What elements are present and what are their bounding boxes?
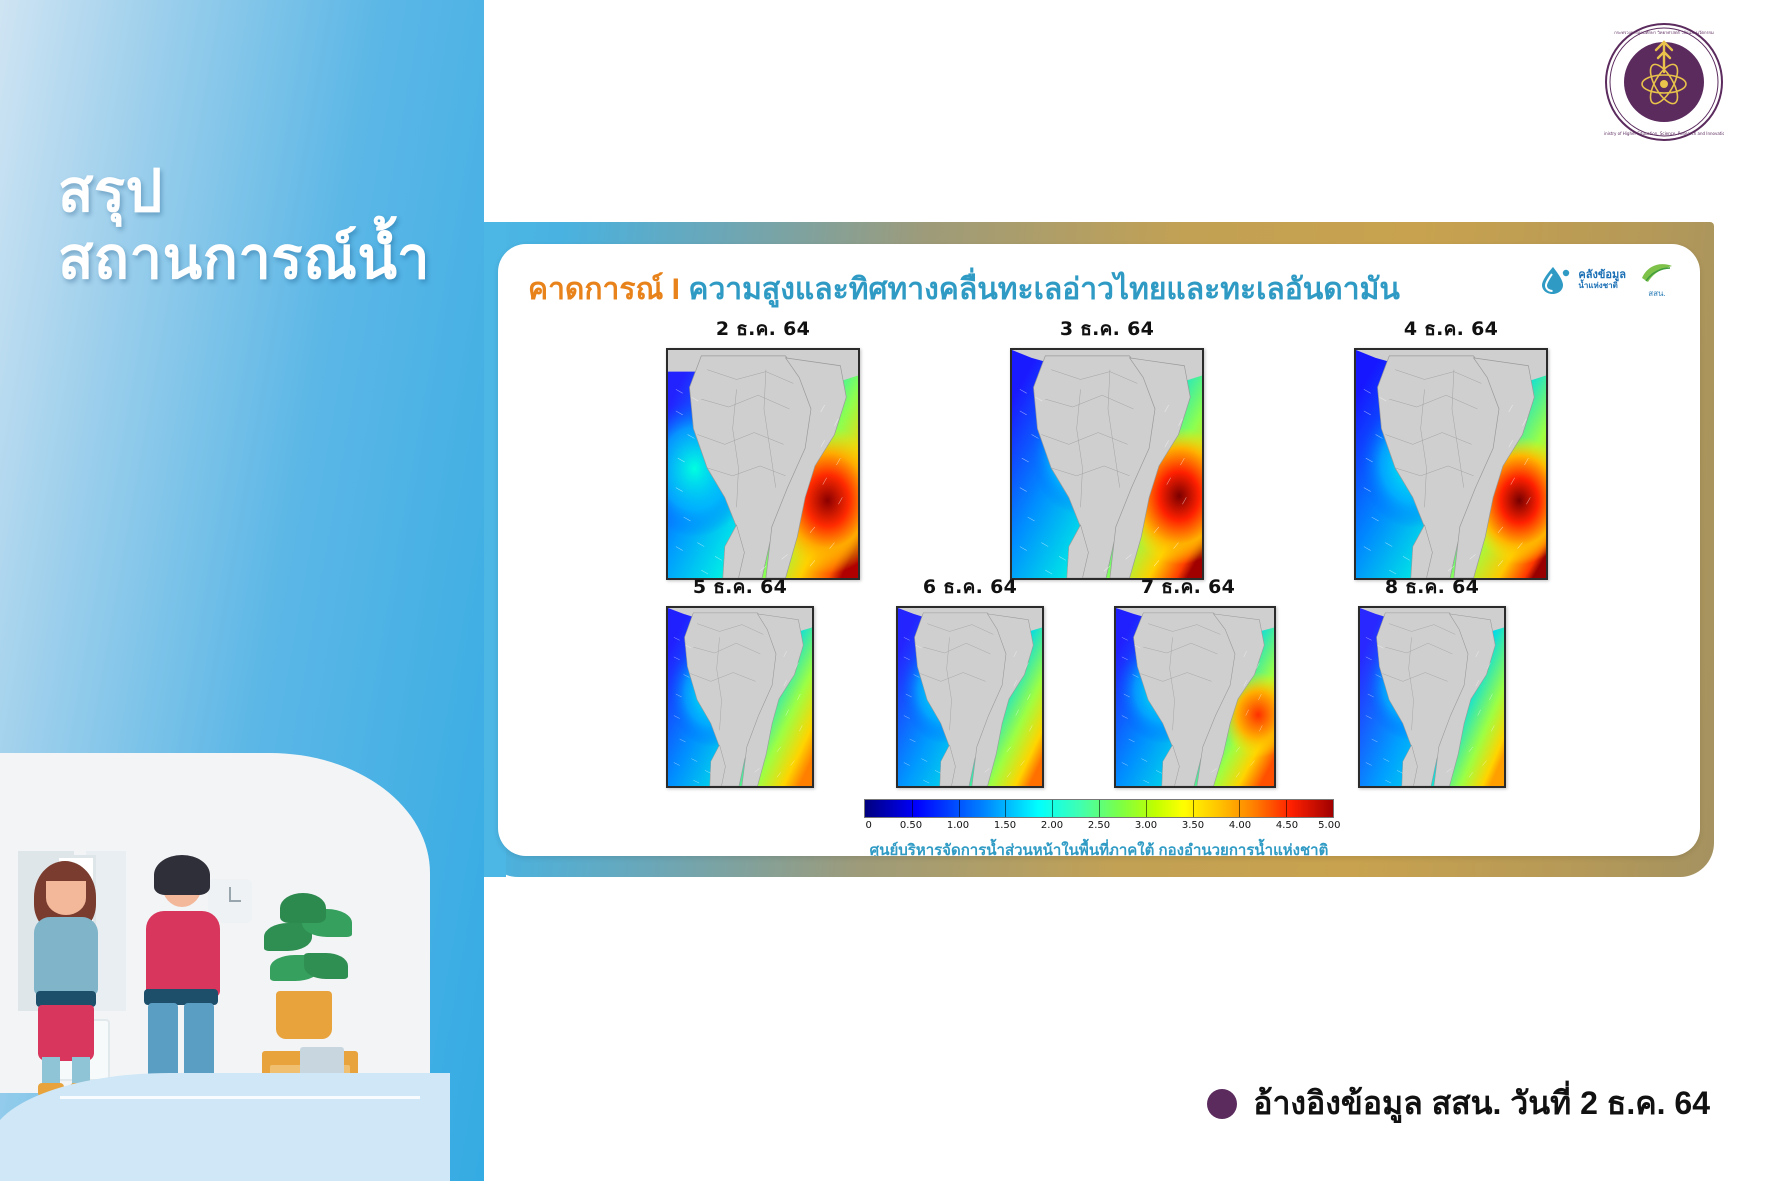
map-date-label: 2 ธ.ค. 64 [666,314,860,344]
card-title-main: ความสูงและทิศทางคลื่นทะเลอ่าวไทยและทะเลอ… [688,273,1400,306]
map-image [1354,348,1548,580]
person-right [128,857,246,1095]
colorbar-gradient [864,799,1334,818]
colorbar-tick: 0 [866,820,872,831]
potted-plant [258,893,358,1053]
map-date-label: 6 ธ.ค. 64 [896,572,1044,602]
map-image [1358,606,1506,788]
nhc-logo: สสน. [1640,260,1674,300]
hii-logo-line1: คลังข้อมูล [1578,269,1626,281]
colorbar-tick: 2.50 [1088,820,1110,831]
wave-map-8dec: 8 ธ.ค. 64 [1358,572,1506,788]
colorbar-tick: 2.00 [1041,820,1063,831]
map-image [1114,606,1276,788]
colorbar-tick: 3.50 [1182,820,1204,831]
card-surface: คาดการณ์ I ความสูงและทิศทางคลื่นทะเลอ่าว… [498,244,1700,856]
map-date-label: 5 ธ.ค. 64 [666,572,814,602]
person-left [16,865,128,1095]
map-date-label: 4 ธ.ค. 64 [1354,314,1548,344]
nhc-logo-caption: สสน. [1648,287,1665,300]
card-title: คาดการณ์ I ความสูงและทิศทางคลื่นทะเลอ่าว… [528,266,1400,313]
wave-map-2dec: 2 ธ.ค. 64 [666,314,860,580]
hii-logo: คลังข้อมูล น้ำแห่งชาติ [1539,265,1626,295]
colorbar-tick: 4.50 [1276,820,1298,831]
card-logos: คลังข้อมูล น้ำแห่งชาติ สสน. [1539,260,1674,300]
bullet-dot-icon [1207,1089,1237,1119]
map-grid: 2 ธ.ค. 64 [498,314,1700,784]
colorbar-tick: 5.00 [1318,820,1340,831]
wave-map-4dec: 4 ธ.ค. 64 [1354,314,1548,580]
left-panel: สรุป สถานการณ์น้ำ [0,0,484,1181]
map-date-label: 7 ธ.ค. 64 [1114,572,1262,602]
reference-line: อ้างอิงข้อมูล สสน. วันที่ 2 ธ.ค. 64 [1207,1078,1710,1129]
water-drop-icon [1539,265,1573,295]
wave-map-5dec: 5 ธ.ค. 64 [666,572,814,788]
colorbar-tick: 1.00 [947,820,969,831]
card-title-prefix: คาดการณ์ I [528,273,680,306]
colorbar-tick-labels: 0 0.50 1.00 1.50 2.00 2.50 3.00 3.50 4.0… [864,820,1334,836]
colorbar-tick: 4.00 [1229,820,1251,831]
hii-logo-line2: น้ำแห่งชาติ [1578,282,1626,290]
map-date-label: 8 ธ.ค. 64 [1358,572,1506,602]
illustration [0,741,484,1181]
map-image [666,348,860,580]
wave-map-7dec: 7 ธ.ค. 64 [1114,572,1262,788]
map-image [1010,348,1204,580]
hii-logo-text: คลังข้อมูล น้ำแห่งชาติ [1578,270,1626,290]
colorbar: 0 0.50 1.00 1.50 2.00 2.50 3.00 3.50 4.0… [864,799,1334,836]
map-image [666,606,814,788]
colorbar-tick: 3.00 [1135,820,1157,831]
illustration-underline [60,1096,420,1099]
source-caption: ศูนย์บริหารจัดการน้ำส่วนหน้าในพื้นที่ภาค… [599,838,1599,856]
leaf-swirl-icon [1640,260,1674,286]
illustration-floor [0,1073,450,1181]
reference-text: อ้างอิงข้อมูล สสน. วันที่ 2 ธ.ค. 64 [1253,1078,1710,1129]
wave-map-3dec: 3 ธ.ค. 64 [1010,314,1204,580]
map-date-label: 3 ธ.ค. 64 [1010,314,1204,344]
slide-main-title: สรุป สถานการณ์น้ำ [58,158,430,293]
slide-root: สรุป สถานการณ์น้ำ [0,0,1772,1181]
content-card: คาดการณ์ I ความสูงและทิศทางคลื่นทะเลอ่าว… [484,222,1714,877]
colorbar-tick: 1.50 [994,820,1016,831]
ministry-seal-icon: กระทรวงการอุดมศึกษา วิทยาศาสตร์ วิจัยและ… [1604,22,1724,142]
map-image [896,606,1044,788]
svg-text:Ministry of Higher Education,: Ministry of Higher Education, Science, R… [1604,131,1724,136]
colorbar-tick: 0.50 [900,820,922,831]
wave-map-6dec: 6 ธ.ค. 64 [896,572,1044,788]
